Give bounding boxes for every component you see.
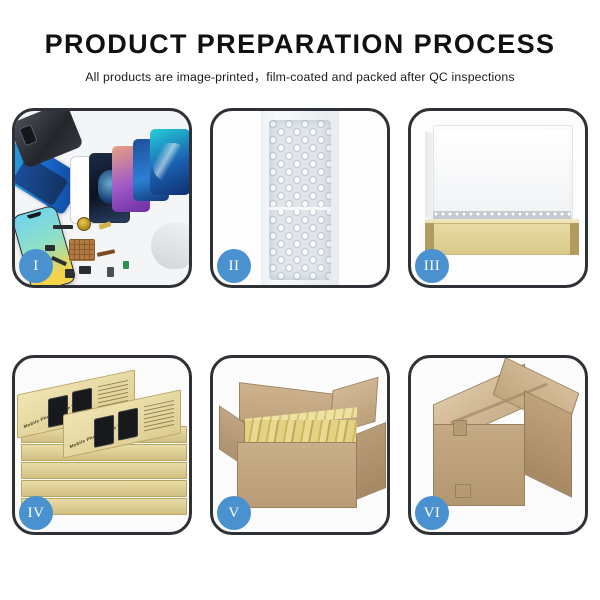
process-step-panel-4: Mobile Phone Spare Parts Mobile Phone Sp… [12, 355, 192, 535]
product-preparation-infographic: PRODUCT PREPARATION PROCESS All products… [0, 0, 600, 600]
box-layer-4 [21, 480, 187, 497]
box-screen-image-front-2 [118, 408, 138, 441]
box-screen-image-front-1 [94, 415, 114, 448]
sealed-carton-tape-lower-icon [455, 484, 471, 498]
process-step-panel-2: II [210, 108, 390, 288]
step-badge-2: II [217, 249, 251, 283]
page-subtitle: All products are image-printed，film-coat… [0, 67, 600, 85]
step-badge-1: I [19, 249, 53, 283]
sealed-carton-front-face-icon [433, 424, 525, 506]
process-step-grid: I II III [12, 108, 588, 535]
button-part-icon [65, 269, 74, 278]
box-spec-lines-front [144, 400, 174, 432]
mailer-corner-right-icon [570, 223, 579, 255]
bubble-wrap-bubbles-icon [269, 120, 331, 280]
speaker-coil-part-icon [77, 217, 91, 231]
mailer-foam-lining-icon [437, 131, 569, 221]
process-step-panel-3: III [408, 108, 588, 288]
step-badge-6: VI [415, 496, 449, 530]
step-badge-3: III [415, 249, 449, 283]
header: PRODUCT PREPARATION PROCESS All products… [0, 0, 600, 85]
bracket-part-icon [45, 245, 55, 251]
process-step-panel-5: V [210, 355, 390, 535]
hand-icon [151, 223, 189, 269]
phone-teal-icon [150, 129, 189, 195]
page-title: PRODUCT PREPARATION PROCESS [0, 30, 600, 58]
sealed-carton-tape-upper-icon [453, 420, 467, 436]
green-pcb-part-icon [123, 261, 129, 269]
box-layer-3 [21, 462, 187, 479]
process-step-panel-1: I [12, 108, 192, 288]
step-badge-5: V [217, 496, 251, 530]
camera-module-part-icon [79, 266, 91, 274]
carton-front-face-icon [237, 442, 357, 508]
copper-flex-part-icon [97, 249, 115, 257]
chip-board-part-icon [69, 239, 95, 261]
sim-tray-part-icon [107, 267, 114, 277]
step-badge-4: IV [19, 496, 53, 530]
process-step-panel-6: VI [408, 355, 588, 535]
mailer-base-icon [425, 223, 579, 255]
carton-side-face-icon [356, 422, 386, 500]
flex-cable-part-icon [53, 225, 73, 229]
bubble-wrap-seam-icon [269, 207, 331, 210]
